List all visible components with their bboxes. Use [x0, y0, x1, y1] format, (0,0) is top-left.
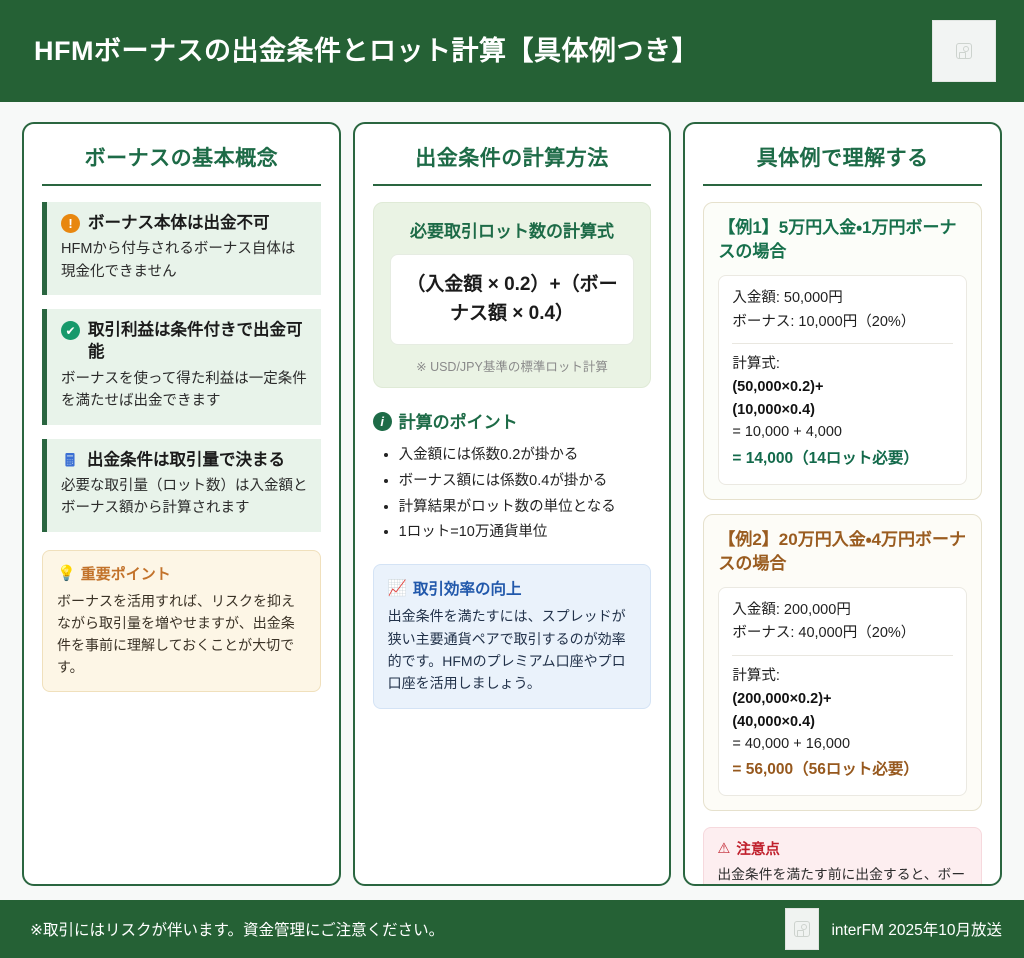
divider	[732, 343, 953, 344]
column-concepts: ボーナスの基本概念 ! ボーナス本体は出金不可 HFMから付与されるボーナス自体…	[22, 122, 341, 886]
important-point-box: 💡 重要ポイント ボーナスを活用すれば、リスクを抑えながら取引量を増やせますが、…	[42, 550, 321, 692]
risk-disclaimer: ※取引にはリスクが伴います。資金管理にご注意ください。	[30, 918, 444, 940]
footer-logo	[785, 908, 819, 950]
bonus-amount: ボーナス: 40,000円（20%）	[732, 622, 953, 645]
efficiency-body: 出金条件を満たすには、スプレッドが狭い主要通貨ペアで取引するのが効率的です。HF…	[388, 605, 637, 695]
calc-label: 計算式:	[732, 665, 953, 688]
column-spacer	[373, 709, 652, 870]
efficiency-title-row: 📈 取引効率の向上	[388, 577, 637, 599]
important-point-title: 重要ポイント	[81, 563, 171, 584]
calc-line: (40,000×0.4)	[732, 711, 953, 733]
divider	[732, 655, 953, 656]
calc-result: = 56,000（56ロット必要）	[732, 758, 953, 783]
page-footer: ※取引にはリスクが伴います。資金管理にご注意ください。 interFM 2025…	[0, 900, 1024, 958]
concept-heading: 取引利益は条件付きで出金可能	[88, 319, 309, 364]
column-method-title: 出金条件の計算方法	[373, 142, 652, 184]
list-item: 計算結果がロット数の単位となる	[399, 495, 652, 521]
chart-increasing-icon: 📈	[388, 579, 407, 598]
column-spacer	[42, 692, 321, 870]
bonus-amount: ボーナス: 10,000円（20%）	[732, 311, 953, 334]
divider	[703, 184, 982, 186]
lightbulb-icon: 💡	[57, 564, 76, 582]
caution-title: 注意点	[736, 838, 780, 859]
column-examples-title: 具体例で理解する	[703, 142, 982, 184]
calc-sum: = 10,000 + 4,000	[732, 421, 953, 444]
concept-body: ボーナスを使って得た利益は一定条件を満たせば出金できます	[61, 368, 309, 413]
concept-heading-row: 🖩 出金条件は取引量で決まる	[61, 449, 309, 471]
formula-expression: （入金額 × 0.2）+（ボーナス額 × 0.4）	[390, 254, 635, 345]
deposit-amount: 入金額: 50,000円	[732, 287, 953, 310]
example-detail: 入金額: 200,000円 ボーナス: 40,000円（20%） 計算式: (2…	[718, 587, 967, 796]
broadcast-credit: interFM 2025年10月放送	[831, 918, 1002, 940]
column-method: 出金条件の計算方法 必要取引ロット数の計算式 （入金額 × 0.2）+（ボーナス…	[353, 122, 672, 886]
content-columns: ボーナスの基本概念 ! ボーナス本体は出金不可 HFMから付与されるボーナス自体…	[0, 102, 1024, 900]
info-circle-icon: i	[373, 412, 392, 431]
warning-triangle-icon: ⚠	[717, 841, 730, 857]
concept-heading: ボーナス本体は出金不可	[88, 212, 270, 234]
check-circle-icon: ✔	[61, 321, 80, 340]
column-concepts-title: ボーナスの基本概念	[42, 142, 321, 184]
calculator-icon: 🖩	[61, 451, 79, 470]
calc-points-list: 入金額には係数0.2が掛かる ボーナス額には係数0.4が掛かる 計算結果がロット…	[399, 443, 652, 546]
broken-image-icon	[794, 921, 810, 937]
example-card: 【例1】5万円入金・1万円ボーナスの場合 入金額: 50,000円 ボーナス: …	[703, 202, 982, 500]
list-item: ボーナス額には係数0.4が掛かる	[399, 469, 652, 495]
calc-result: = 14,000（14ロット必要）	[732, 447, 953, 472]
formula-note: ※ USD/JPY基準の標準ロット計算	[390, 356, 635, 375]
header-logo	[932, 20, 996, 82]
formula-title: 必要取引ロット数の計算式	[390, 217, 635, 242]
important-point-title-row: 💡 重要ポイント	[57, 563, 306, 584]
column-examples: 具体例で理解する 【例1】5万円入金・1万円ボーナスの場合 入金額: 50,00…	[683, 122, 1002, 886]
calc-points-title-row: i 計算のポイント	[373, 408, 652, 433]
concept-heading-row: ! ボーナス本体は出金不可	[61, 212, 309, 234]
calc-sum: = 40,000 + 16,000	[732, 733, 953, 756]
page-header: HFMボーナスの出金条件とロット計算【具体例つき】	[0, 0, 1024, 102]
efficiency-box: 📈 取引効率の向上 出金条件を満たすには、スプレッドが狭い主要通貨ペアで取引する…	[373, 564, 652, 709]
list-item: 1ロット=10万通貨単位	[399, 520, 652, 546]
concept-body: 必要な取引量（ロット数）は入金額とボーナス額から計算されます	[61, 475, 309, 520]
broken-image-icon	[956, 43, 972, 59]
example-detail: 入金額: 50,000円 ボーナス: 10,000円（20%） 計算式: (50…	[718, 275, 967, 484]
example-title: 【例2】20万円入金・4万円ボーナスの場合	[718, 528, 967, 576]
concept-card: 🖩 出金条件は取引量で決まる 必要な取引量（ロット数）は入金額とボーナス額から計…	[42, 439, 321, 532]
caution-body: 出金条件を満たす前に出金すると、ボーナス及びボーナスで得た利益が消失します。計画…	[717, 864, 968, 886]
calc-points-title: 計算のポイント	[399, 408, 518, 433]
example-card: 【例2】20万円入金・4万円ボーナスの場合 入金額: 200,000円 ボーナス…	[703, 514, 982, 812]
concept-body: HFMから付与されるボーナス自体は現金化できません	[61, 238, 309, 283]
concept-card: ! ボーナス本体は出金不可 HFMから付与されるボーナス自体は現金化できません	[42, 202, 321, 295]
calc-line: (10,000×0.4)	[732, 399, 953, 421]
list-item: 入金額には係数0.2が掛かる	[399, 443, 652, 469]
concept-heading-row: ✔ 取引利益は条件付きで出金可能	[61, 319, 309, 364]
caution-title-row: ⚠ 注意点	[717, 838, 968, 859]
calc-label: 計算式:	[732, 353, 953, 376]
calc-line: (200,000×0.2)+	[732, 688, 953, 710]
divider	[373, 184, 652, 186]
formula-box: 必要取引ロット数の計算式 （入金額 × 0.2）+（ボーナス額 × 0.4） ※…	[373, 202, 652, 388]
efficiency-title: 取引効率の向上	[413, 577, 522, 599]
infographic-page: HFMボーナスの出金条件とロット計算【具体例つき】 ボーナスの基本概念 ! ボー…	[0, 0, 1024, 958]
important-point-body: ボーナスを活用すれば、リスクを抑えながら取引量を増やせますが、出金条件を事前に理…	[57, 590, 306, 678]
concept-heading: 出金条件は取引量で決まる	[87, 449, 285, 471]
page-title: HFMボーナスの出金条件とロット計算【具体例つき】	[34, 35, 699, 67]
divider	[42, 184, 321, 186]
footer-credit-group: interFM 2025年10月放送	[785, 908, 1002, 950]
calc-line: (50,000×0.2)+	[732, 376, 953, 398]
warning-circle-icon: !	[61, 214, 80, 233]
concept-card: ✔ 取引利益は条件付きで出金可能 ボーナスを使って得た利益は一定条件を満たせば出…	[42, 309, 321, 424]
deposit-amount: 入金額: 200,000円	[732, 599, 953, 622]
example-title: 【例1】5万円入金・1万円ボーナスの場合	[718, 216, 967, 264]
caution-box: ⚠ 注意点 出金条件を満たす前に出金すると、ボーナス及びボーナスで得た利益が消失…	[703, 827, 982, 886]
